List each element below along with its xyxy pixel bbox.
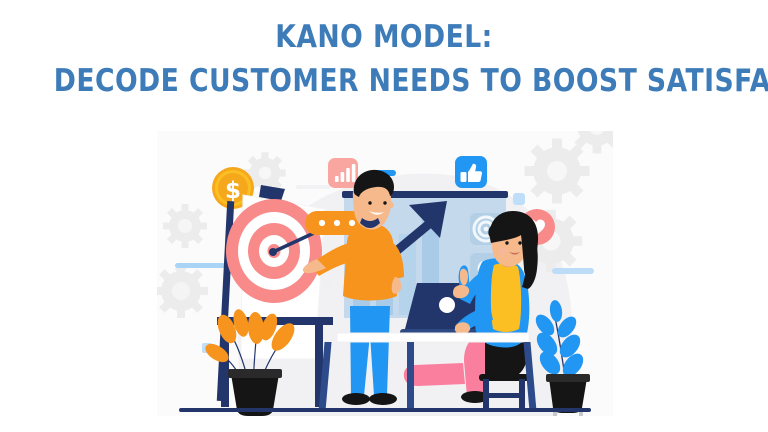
bar-chart-icon <box>328 158 358 188</box>
illustration-svg: $ <box>157 131 613 416</box>
title-line-2: Decode Customer Needs to Boost Satisfact… <box>54 66 714 97</box>
floor-line <box>179 408 591 412</box>
svg-text:$: $ <box>225 178 241 204</box>
title-line-1: Kano Model: <box>54 22 714 53</box>
illustration: $ <box>157 131 613 416</box>
thumbs-up-icon <box>455 156 487 188</box>
page-title: Kano Model: Decode Customer Needs to Boo… <box>0 22 768 97</box>
page-root: Kano Model: Decode Customer Needs to Boo… <box>0 0 768 432</box>
